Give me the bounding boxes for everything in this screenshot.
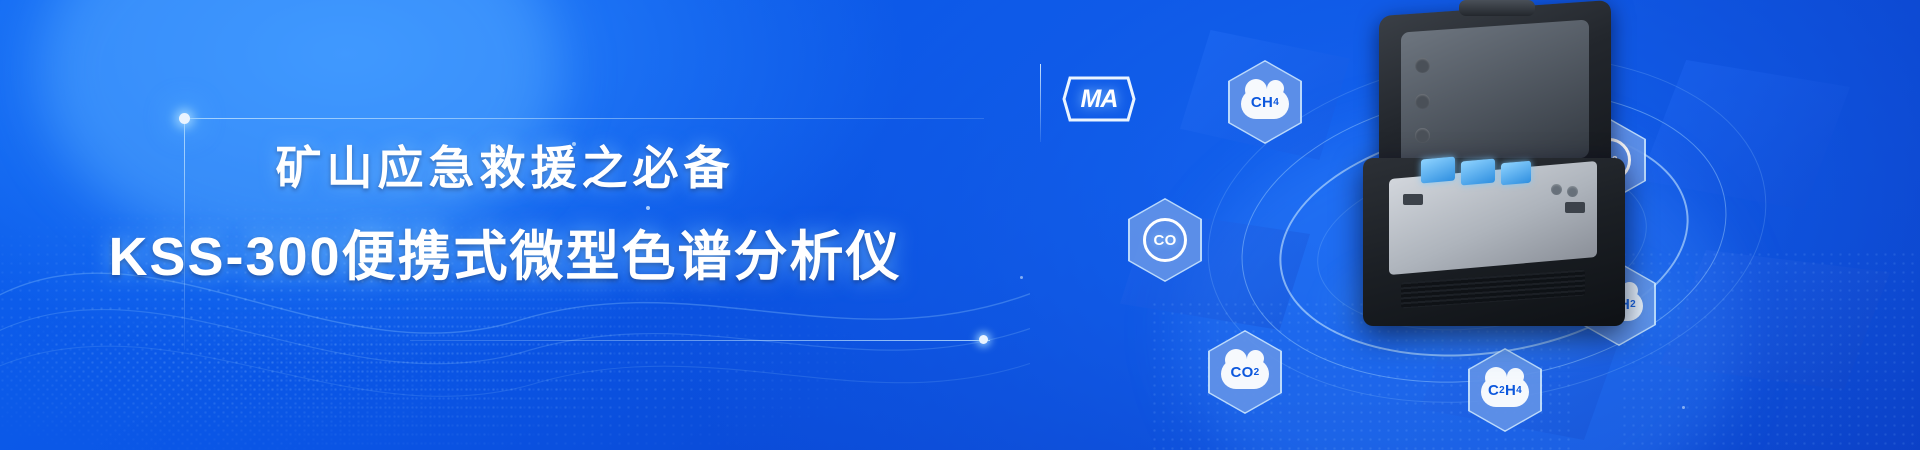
gas-icon-carbon-dioxide: CO2 bbox=[1208, 330, 1282, 414]
panel-knob-2 bbox=[1567, 186, 1578, 197]
dot-mesh-wave-c bbox=[0, 300, 640, 450]
lid-inset-panel bbox=[1401, 19, 1589, 170]
divider-line-ma bbox=[1040, 64, 1041, 142]
ma-certification-icon: MA bbox=[1060, 72, 1138, 126]
case-latch-left bbox=[1403, 194, 1423, 205]
gas-icon-methane: CH4 bbox=[1228, 60, 1302, 144]
gas-icon-carbon-monoxide: CO bbox=[1128, 198, 1202, 282]
case-latch-right bbox=[1565, 202, 1585, 213]
display-screen-1 bbox=[1421, 157, 1455, 184]
node-top-left bbox=[179, 113, 190, 124]
product-title: KSS-300便携式微型色谱分析仪 bbox=[0, 212, 1010, 291]
lid-knob-2 bbox=[1415, 94, 1430, 109]
poly-block-4 bbox=[1660, 250, 1890, 390]
spark-4 bbox=[1682, 406, 1685, 409]
lid-knob-1 bbox=[1415, 58, 1430, 73]
display-screen-2 bbox=[1461, 159, 1495, 186]
product-image-portable-chromatograph bbox=[1355, 8, 1645, 343]
spark-3 bbox=[1020, 276, 1023, 279]
gas-label-carbon-monoxide: CO bbox=[1128, 198, 1202, 282]
poly-block-2 bbox=[1640, 60, 1850, 210]
node-bottom-right bbox=[979, 335, 988, 344]
gas-label-carbon-dioxide: CO2 bbox=[1208, 330, 1282, 414]
frame-bottom-line bbox=[410, 340, 990, 341]
panel-knob-1 bbox=[1551, 184, 1562, 195]
lid-knob-3 bbox=[1415, 128, 1430, 143]
frame-top-line bbox=[184, 118, 984, 119]
gas-label-methane: CH4 bbox=[1228, 60, 1302, 144]
ma-label: MA bbox=[1060, 72, 1138, 126]
page-title: 矿山应急救援之必备 bbox=[0, 132, 1010, 198]
banner-copy: 矿山应急救援之必备 KSS-300便携式微型色谱分析仪 bbox=[0, 132, 1010, 291]
promo-banner: 矿山应急救援之必备 KSS-300便携式微型色谱分析仪 MA CH4 O2 CO… bbox=[0, 0, 1920, 450]
display-screen-3 bbox=[1501, 161, 1531, 186]
case-handle bbox=[1459, 0, 1535, 16]
